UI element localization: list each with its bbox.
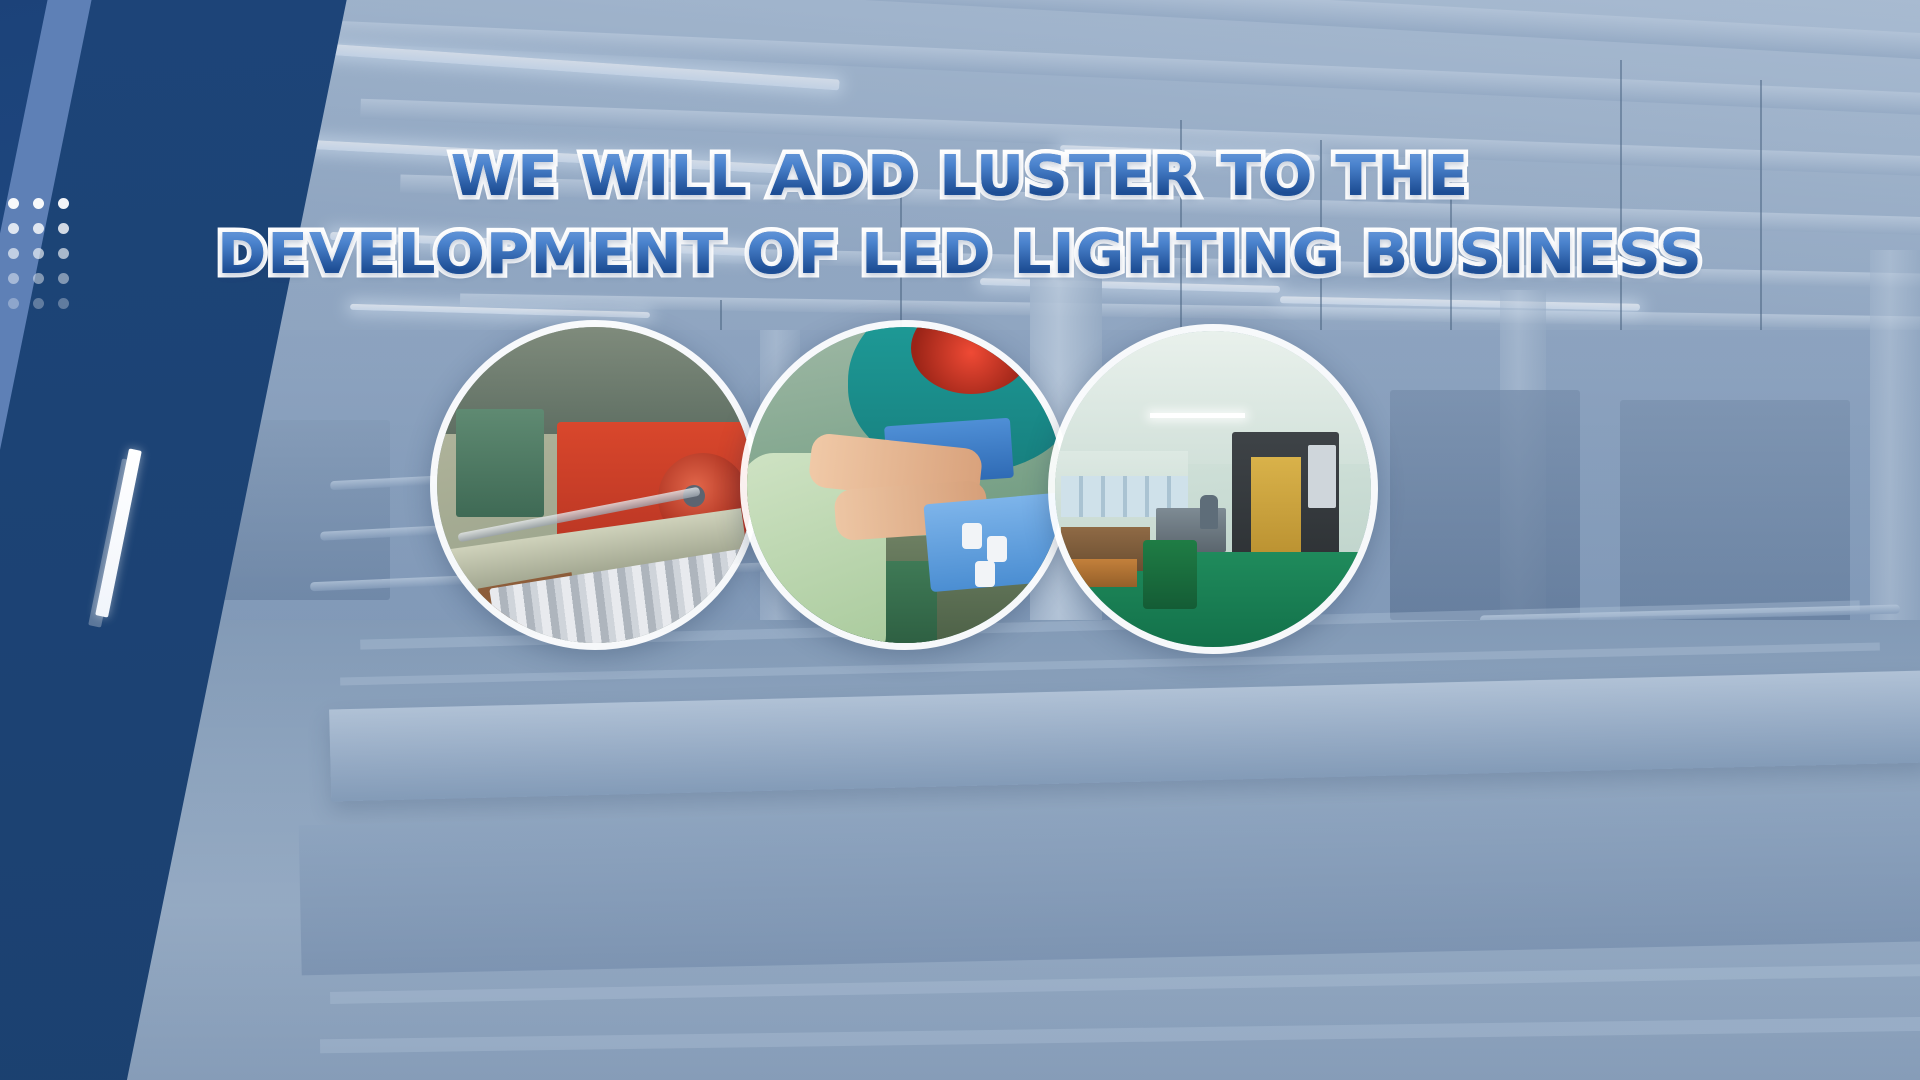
grid-dot	[33, 273, 44, 284]
grid-dot	[33, 198, 44, 209]
grid-dot	[33, 223, 44, 234]
grid-dot	[58, 198, 69, 209]
photo-cutting-machine	[437, 327, 753, 643]
white-plastic-part	[987, 536, 1007, 562]
cnc-control-panel	[1308, 445, 1336, 508]
grid-dot	[33, 298, 44, 309]
photo-workshop-interior	[1055, 331, 1371, 647]
grid-dot	[8, 248, 19, 259]
gallery-circle-2[interactable]	[740, 320, 1070, 650]
grid-dot	[8, 198, 19, 209]
white-plastic-part	[962, 523, 982, 549]
dot-grid	[8, 198, 83, 323]
gallery-circle-1[interactable]	[430, 320, 760, 650]
green-oil-drum	[1143, 540, 1197, 610]
grid-dot	[33, 248, 44, 259]
photo-worker-press	[747, 327, 1063, 643]
machine-green-housing	[456, 409, 544, 516]
cnc-door	[1251, 457, 1302, 564]
grid-dot	[58, 248, 69, 259]
workshop-lamp	[1150, 413, 1245, 418]
grid-dot	[58, 223, 69, 234]
circular-photo-gallery	[430, 320, 1390, 680]
grid-dot	[58, 273, 69, 284]
grid-dot	[58, 298, 69, 309]
wooden-bench-lower	[1068, 559, 1138, 587]
white-plastic-part	[975, 561, 995, 587]
grid-dot	[8, 298, 19, 309]
grid-dot	[8, 223, 19, 234]
gallery-circle-3[interactable]	[1048, 324, 1378, 654]
grid-dot	[8, 273, 19, 284]
hero-banner: WE WILL ADD LUSTER TO THE WE WILL ADD LU…	[0, 0, 1920, 1080]
worker-figure	[1200, 495, 1218, 529]
left-decoration-panel	[0, 0, 470, 1080]
